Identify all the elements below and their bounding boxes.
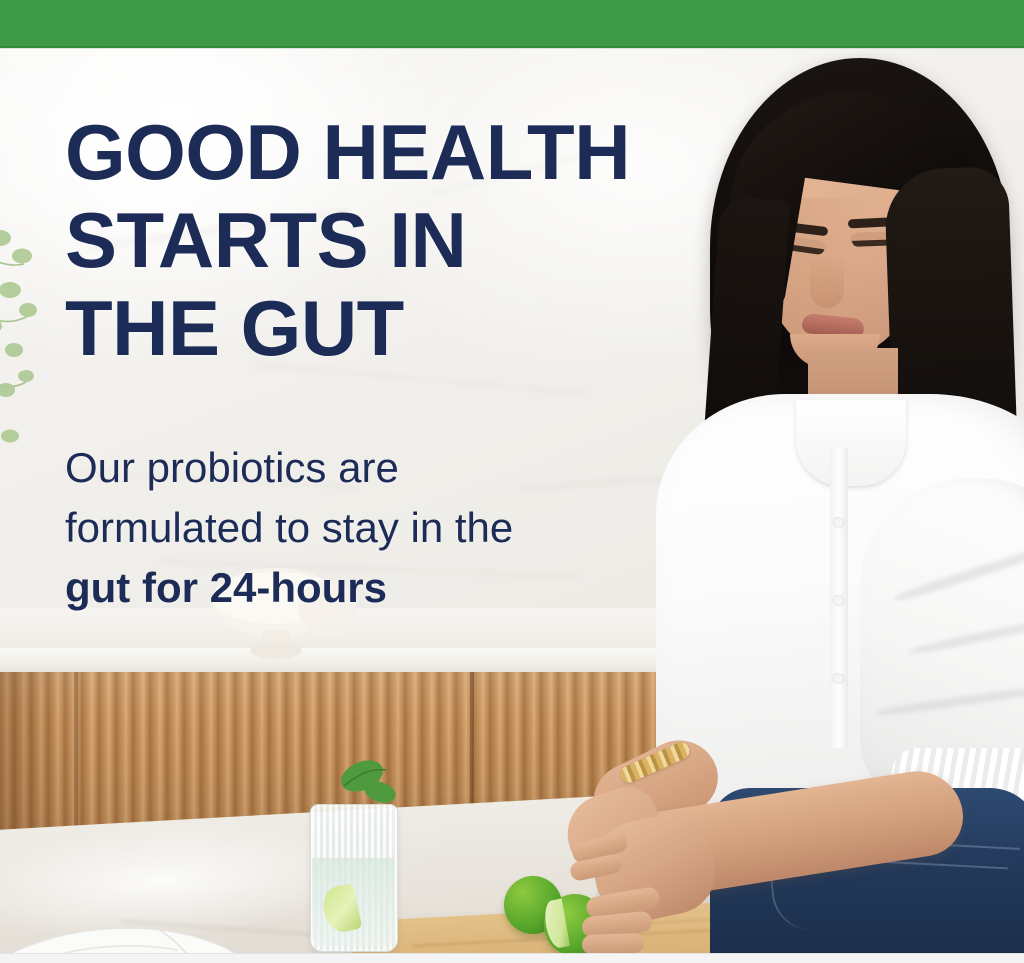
nose (810, 256, 844, 308)
top-green-bar (0, 0, 1024, 48)
headline-block: GOOD HEALTH STARTS IN THE GUT (65, 108, 630, 372)
blouse-button (834, 674, 843, 683)
blouse-collar (796, 400, 906, 486)
ribbed-drinking-glass (310, 790, 396, 950)
blouse-button (834, 596, 843, 605)
subcopy-line-1: Our probiotics are (65, 438, 665, 498)
mint-sprig (328, 752, 404, 814)
subcopy-line-2: formulated to stay in the (65, 498, 665, 558)
promo-banner: GOOD HEALTH STARTS IN THE GUT Our probio… (0, 0, 1024, 963)
blouse-button (834, 518, 843, 527)
top-bar-shadow (0, 46, 1024, 49)
page-title: GOOD HEALTH STARTS IN THE GUT (65, 108, 630, 372)
bottom-strip (0, 953, 1024, 963)
subcopy-block: Our probiotics are formulated to stay in… (65, 438, 665, 618)
subcopy-line-3-bold: gut for 24-hours (65, 558, 665, 618)
